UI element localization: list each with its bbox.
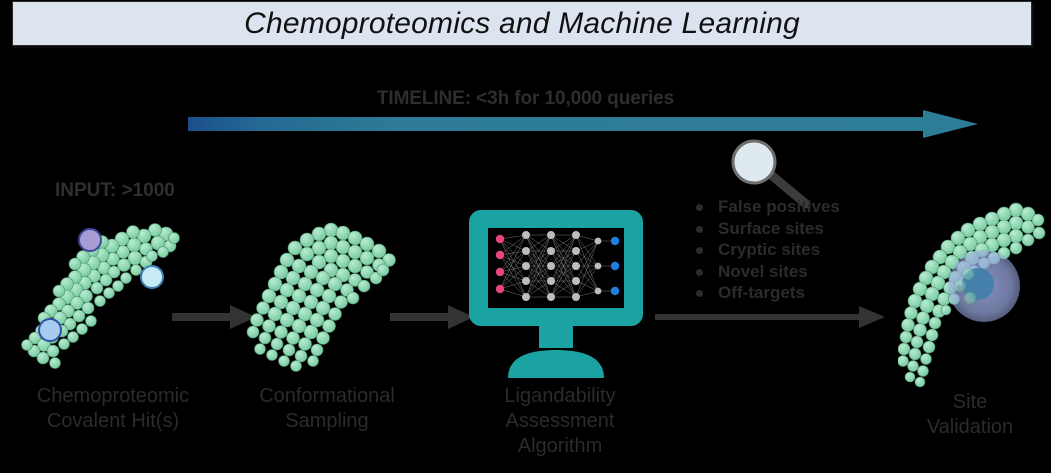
- ligandability-monitor-icon: [466, 208, 646, 380]
- step-caption-3: Ligandability Assessment Algorithm: [470, 384, 650, 459]
- page-title: Chemoproteomics and Machine Learning: [244, 7, 800, 41]
- protein-surface-conformer: [243, 220, 413, 375]
- outcomes-list: False positives Surface sites Cryptic si…: [688, 196, 888, 304]
- flow-arrow-2-icon: [390, 304, 474, 330]
- step-caption-1: Chemoproteomic Covalent Hit(s): [8, 384, 218, 434]
- timeline-label: TIMELINE: <3h for 10,000 queries: [0, 88, 1051, 110]
- list-item: Off-targets: [688, 282, 888, 304]
- protein-surface-hit: [18, 212, 188, 372]
- flow-arrow-3-icon: [655, 305, 885, 329]
- input-count-label: INPUT: >1000: [55, 180, 175, 202]
- protein-surface-validated: [898, 198, 1051, 393]
- step-caption-4: Site Validation: [880, 390, 1051, 440]
- title-banner: Chemoproteomics and Machine Learning: [12, 1, 1032, 46]
- covalent-site-marker-blue: [38, 318, 62, 342]
- list-item: Cryptic sites: [688, 239, 888, 261]
- list-item: Surface sites: [688, 218, 888, 240]
- list-item: False positives: [688, 196, 888, 218]
- timeline-arrow-icon: [188, 110, 978, 138]
- covalent-site-marker-purple: [78, 228, 102, 252]
- figure-root: Chemoproteomics and Machine Learning TIM…: [0, 0, 1051, 473]
- list-item: Novel sites: [688, 261, 888, 283]
- covalent-site-marker-cyan: [140, 265, 164, 289]
- step-caption-2: Conformational Sampling: [232, 384, 422, 434]
